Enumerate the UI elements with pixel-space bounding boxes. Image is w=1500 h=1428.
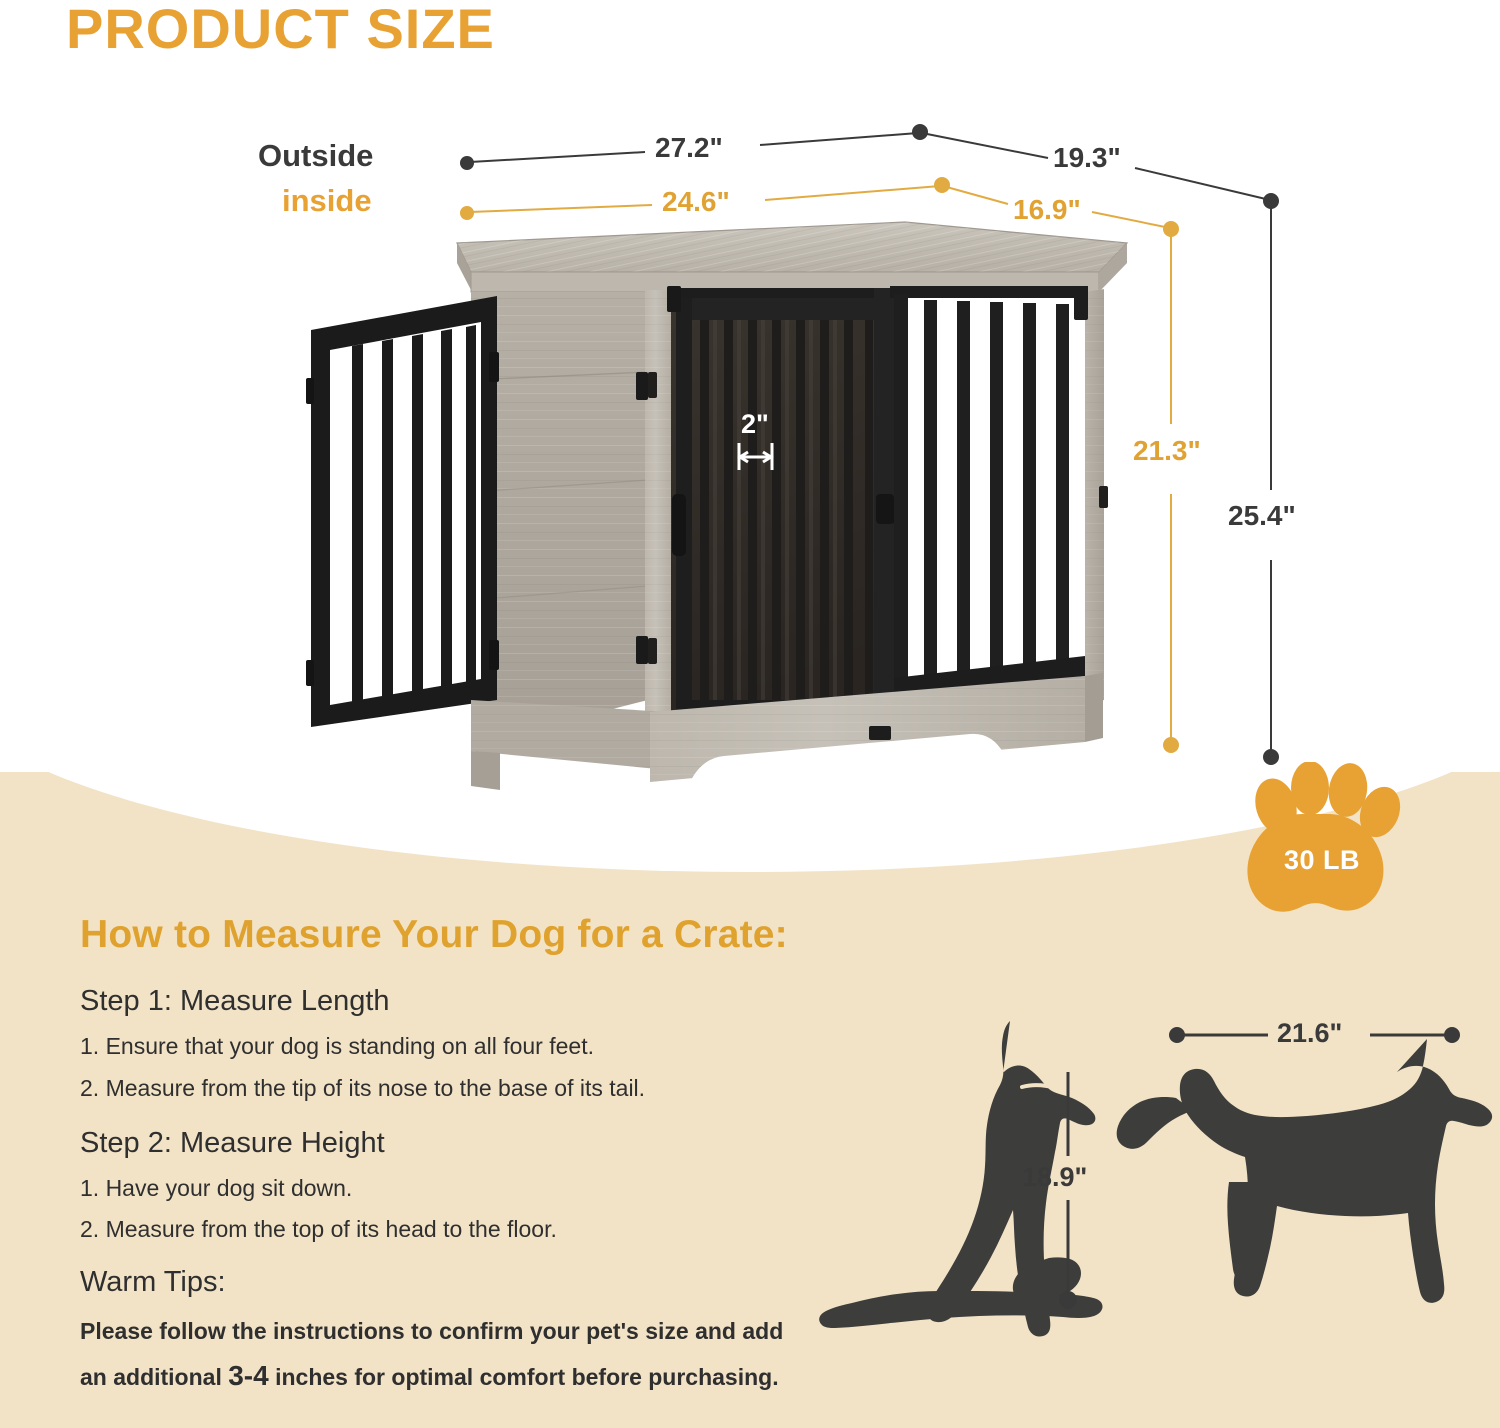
legend-outside-label: Outside	[258, 140, 373, 171]
crate-top-panel	[457, 222, 1127, 292]
dimension-lines-inside	[470, 186, 1171, 744]
dim-outside-depth-label: 19.3"	[1053, 142, 1121, 174]
step-2-line-1: 1. Have your dog sit down.	[80, 1175, 352, 1202]
crate-slider-track	[890, 286, 1088, 320]
crate-open-door	[306, 296, 648, 727]
dim-outside-width-label: 27.2"	[655, 132, 723, 164]
dimension-dots-inside	[460, 177, 1179, 753]
crate-right-post	[1085, 289, 1108, 706]
step-2-line-2: 2. Measure from the top of its head to t…	[80, 1216, 557, 1243]
dim-inside-depth-label: 16.9"	[1013, 194, 1081, 226]
infographic-canvas: PRODUCT SIZE Outside inside	[0, 0, 1500, 1428]
dim-bar-spacing-label: 2"	[741, 409, 769, 440]
crate-left-side-panel	[471, 292, 648, 745]
legend-inside-label: inside	[282, 185, 373, 216]
dog-length-label: 21.6"	[1277, 1018, 1342, 1049]
legend: Outside inside	[258, 140, 373, 216]
dim-outside-height-label: 25.4"	[1228, 500, 1296, 532]
crate-left-front-stile	[645, 290, 671, 720]
dog-height-label: 18.9"	[1022, 1162, 1087, 1193]
paw-icon	[1228, 762, 1410, 914]
warm-tips-body: Please follow the instructions to confir…	[80, 1312, 800, 1400]
guide-title: How to Measure Your Dog for a Crate:	[80, 913, 788, 957]
crate-interior	[668, 292, 892, 712]
warm-tips-emphasis: 3-4	[228, 1360, 268, 1391]
step-1-line-2: 2. Measure from the tip of its nose to t…	[80, 1075, 645, 1102]
step-1-line-1: 1. Ensure that your dog is standing on a…	[80, 1033, 594, 1060]
warm-tips-line-2-post: inches for optimal comfort before purcha…	[269, 1364, 779, 1390]
warm-tips-line-2-pre: an additional	[80, 1364, 228, 1390]
step-1-heading: Step 1: Measure Length	[80, 985, 390, 1018]
door-latch	[876, 494, 897, 524]
page-title: PRODUCT SIZE	[66, 0, 495, 60]
weight-badge-label: 30 LB	[1262, 845, 1382, 876]
crate-right-opening	[900, 292, 1085, 690]
bar-spacing-arrow	[739, 443, 772, 470]
step-2-heading: Step 2: Measure Height	[80, 1127, 385, 1160]
crate-floor	[668, 660, 1085, 736]
dim-inside-height-label: 21.3"	[1133, 435, 1201, 467]
warm-tips-heading: Warm Tips:	[80, 1266, 226, 1299]
warm-tips-line-1: Please follow the instructions to confir…	[80, 1318, 783, 1344]
crate-front-sliding-door	[667, 286, 897, 726]
dim-inside-width-label: 24.6"	[662, 186, 730, 218]
crate-right-panel-bars	[894, 294, 1085, 698]
